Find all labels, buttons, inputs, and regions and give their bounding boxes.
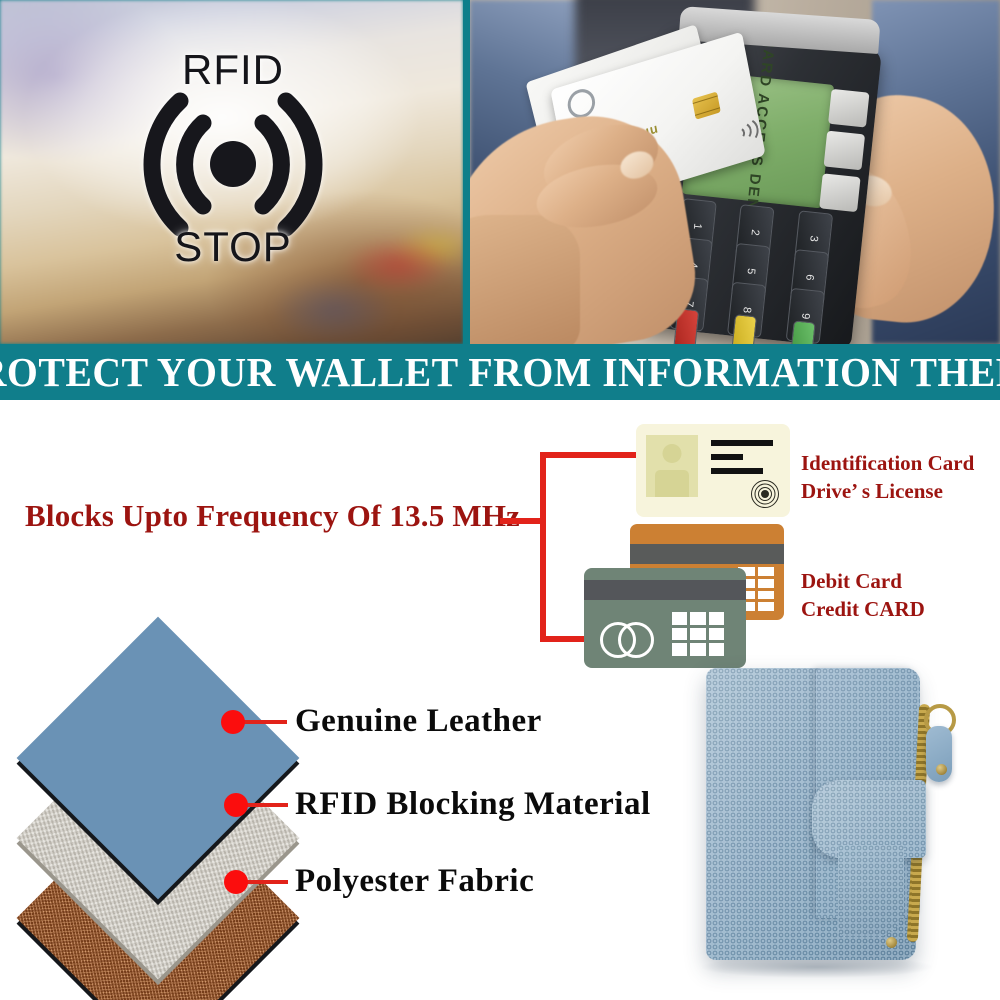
interlocking-circles-icon (600, 622, 652, 652)
top-photo-strip: RFID STOP (0, 0, 1000, 344)
debit-card-graphic-front (584, 568, 746, 668)
leader-line-leather (243, 720, 287, 724)
marker-dot-fabric (224, 870, 248, 894)
id-photo-head (663, 444, 682, 463)
wallet-stud (936, 764, 947, 775)
connector-trunk (540, 452, 546, 642)
payment-card-label-line1: Debit Card (801, 568, 925, 596)
payment-card-label: Debit Card Credit CARD (801, 568, 925, 623)
photo-rfid-stop: RFID STOP (0, 0, 463, 344)
connector-branch-top (540, 452, 643, 458)
left-forearm (470, 215, 580, 344)
infographic-page: RFID STOP (0, 0, 1000, 1000)
id-photo-body (655, 470, 689, 497)
marker-dot-rfid (224, 793, 248, 817)
card-number-block (672, 612, 724, 656)
headline-banner: PROTECT YOUR WALLET FROM INFORMATION THE… (0, 344, 1000, 400)
frequency-headline: Blocks Upto Frequency Of 13.5 MHz (25, 498, 520, 534)
card-chip-icon (692, 91, 721, 119)
leader-line-fabric (246, 880, 288, 884)
rfid-chip-icon (752, 481, 778, 507)
id-card-label-line1: Identification Card (801, 450, 974, 478)
payment-card-label-line2: Credit CARD (801, 596, 925, 624)
terminal-clear-key[interactable] (730, 314, 757, 344)
magnetic-stripe (584, 580, 746, 600)
id-text-line (711, 468, 763, 474)
id-text-line (711, 440, 773, 446)
pos-scene: CARD ACCESS DENIED 1 2 3 4 5 (470, 0, 1000, 344)
rfid-label-bottom: STOP (108, 223, 358, 271)
id-photo-placeholder (646, 435, 698, 497)
id-card-label: Identification Card Drive’ s License (801, 450, 974, 505)
headline-text: PROTECT YOUR WALLET FROM INFORMATION THE… (0, 352, 1000, 393)
terminal-softkey[interactable] (828, 89, 869, 128)
id-card-label-line2: Drive’ s License (801, 478, 974, 506)
layer-label-leather: Genuine Leather (295, 703, 542, 740)
layer-label-fabric: Polyester Fabric (295, 863, 534, 900)
product-wallet-photo (688, 660, 978, 980)
wallet-front-pocket (838, 845, 904, 937)
marker-dot-leather (221, 710, 245, 734)
identification-card-graphic (636, 424, 790, 517)
rfid-signal-icon: RFID STOP (108, 38, 358, 288)
leader-line-rfid (246, 803, 288, 807)
terminal-softkey[interactable] (824, 131, 865, 170)
photo-pos-terminal: CARD ACCESS DENIED 1 2 3 4 5 (470, 0, 1000, 344)
terminal-softkey[interactable] (819, 173, 860, 212)
layer-label-rfid: RFID Blocking Material (295, 786, 651, 823)
magnetic-stripe (630, 544, 784, 564)
id-text-line (711, 454, 743, 460)
wallet-stud (886, 937, 897, 948)
contactless-wave-icon (729, 116, 755, 146)
